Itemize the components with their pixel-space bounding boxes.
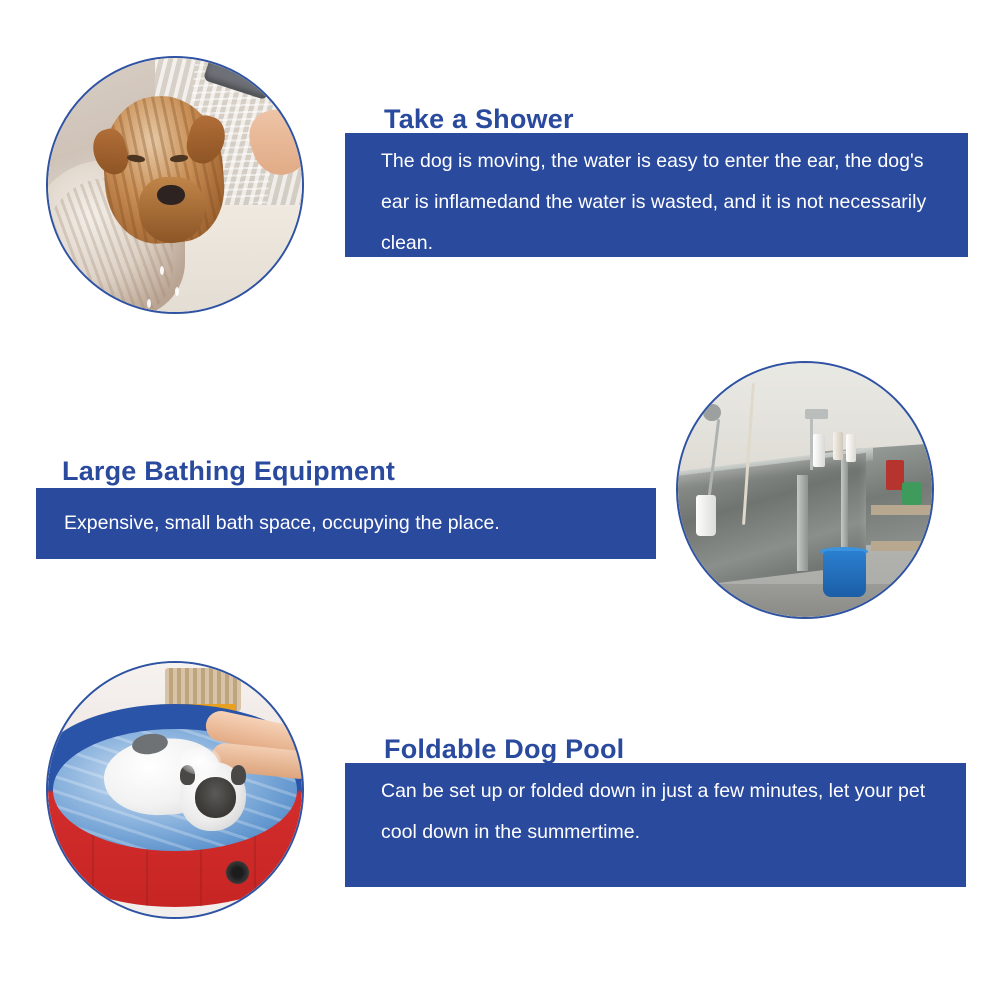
section-heading-take-a-shower: Take a Shower [384,104,574,135]
shampoo-bottle [833,432,843,460]
section-body-text: The dog is moving, the water is easy to … [381,141,946,264]
shampoo-bottle [813,434,826,467]
photo-large-bathing-equipment-image [678,363,932,617]
section-body-large-bathing-equipment: Expensive, small bath space, occupying t… [36,488,656,559]
photo-large-bathing-equipment [676,361,934,619]
section-body-text: Can be set up or folded down in just a f… [381,771,944,853]
shampoo-bottle [846,434,856,462]
photo-foldable-dog-pool-image [48,663,302,917]
storage-shelf [871,541,932,551]
photo-take-a-shower-image [48,58,302,312]
soap-foam [180,747,221,775]
blue-bucket [823,551,866,597]
pump-dispenser-bottle [696,495,716,536]
section-heading-large-bathing-equipment: Large Bathing Equipment [62,456,395,487]
pool-drain-plug [226,861,249,884]
product-benefits-infographic: Take a Shower The dog is moving, the wat… [0,0,1000,1000]
tub-partition [797,475,807,572]
storage-shelf [871,505,932,515]
photo-take-a-shower [46,56,304,314]
green-item [902,482,922,505]
photo-foldable-dog-pool [46,661,304,919]
section-body-foldable-dog-pool: Can be set up or folded down in just a f… [345,763,966,887]
bulldog-ear-right [231,765,246,785]
section-body-text: Expensive, small bath space, occupying t… [64,503,500,544]
water-drop [160,266,164,275]
water-drop [175,287,179,296]
section-body-take-a-shower: The dog is moving, the water is easy to … [345,133,968,257]
bulldog-face [195,777,236,818]
grooming-room-floor [678,584,932,617]
section-heading-foldable-dog-pool: Foldable Dog Pool [384,734,624,765]
faucet-icon [805,409,828,419]
